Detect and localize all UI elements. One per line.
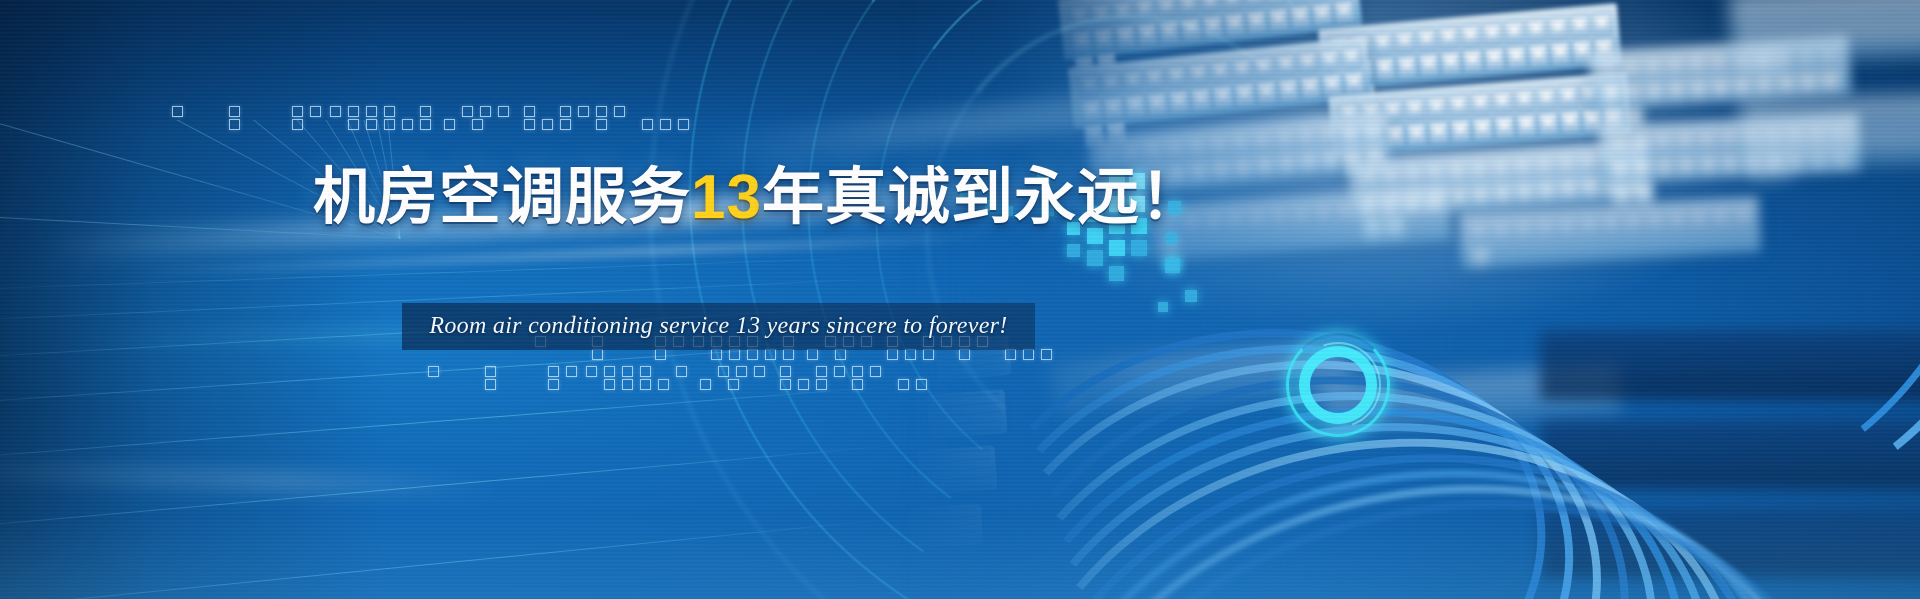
decor-square xyxy=(560,106,571,117)
headline-part-1: 机房空调服务 xyxy=(313,163,691,232)
decor-square xyxy=(578,106,589,117)
decor-square xyxy=(310,106,321,117)
decor-square xyxy=(172,106,183,117)
decor-square xyxy=(498,106,509,117)
decor-square xyxy=(420,106,431,117)
decor-square xyxy=(384,106,395,117)
headline-highlight-number: 13 xyxy=(691,163,762,232)
decor-square xyxy=(229,106,240,117)
headline-part-2: 年真诚到永远 xyxy=(762,163,1140,232)
decor-square xyxy=(462,106,473,117)
decor-square xyxy=(480,106,491,117)
decor-square xyxy=(524,106,535,117)
hero-banner: 机房空调服务13年真诚到永远！ Room air conditioning se… xyxy=(0,0,1920,599)
subtitle: Room air conditioning service 13 years s… xyxy=(402,303,1035,350)
decor-square xyxy=(348,106,359,117)
server-rack-photo xyxy=(900,0,1920,599)
page-title: 机房空调服务13年真诚到永远！ xyxy=(313,167,1203,229)
headline-exclamation: ！ xyxy=(1140,163,1203,232)
photo-edge-veil xyxy=(900,0,1920,599)
decor-square xyxy=(614,106,625,117)
decor-square xyxy=(292,106,303,117)
decor-square xyxy=(596,106,607,117)
hud-ring-icon xyxy=(1286,333,1390,437)
decor-square xyxy=(330,106,341,117)
decor-square xyxy=(366,106,377,117)
